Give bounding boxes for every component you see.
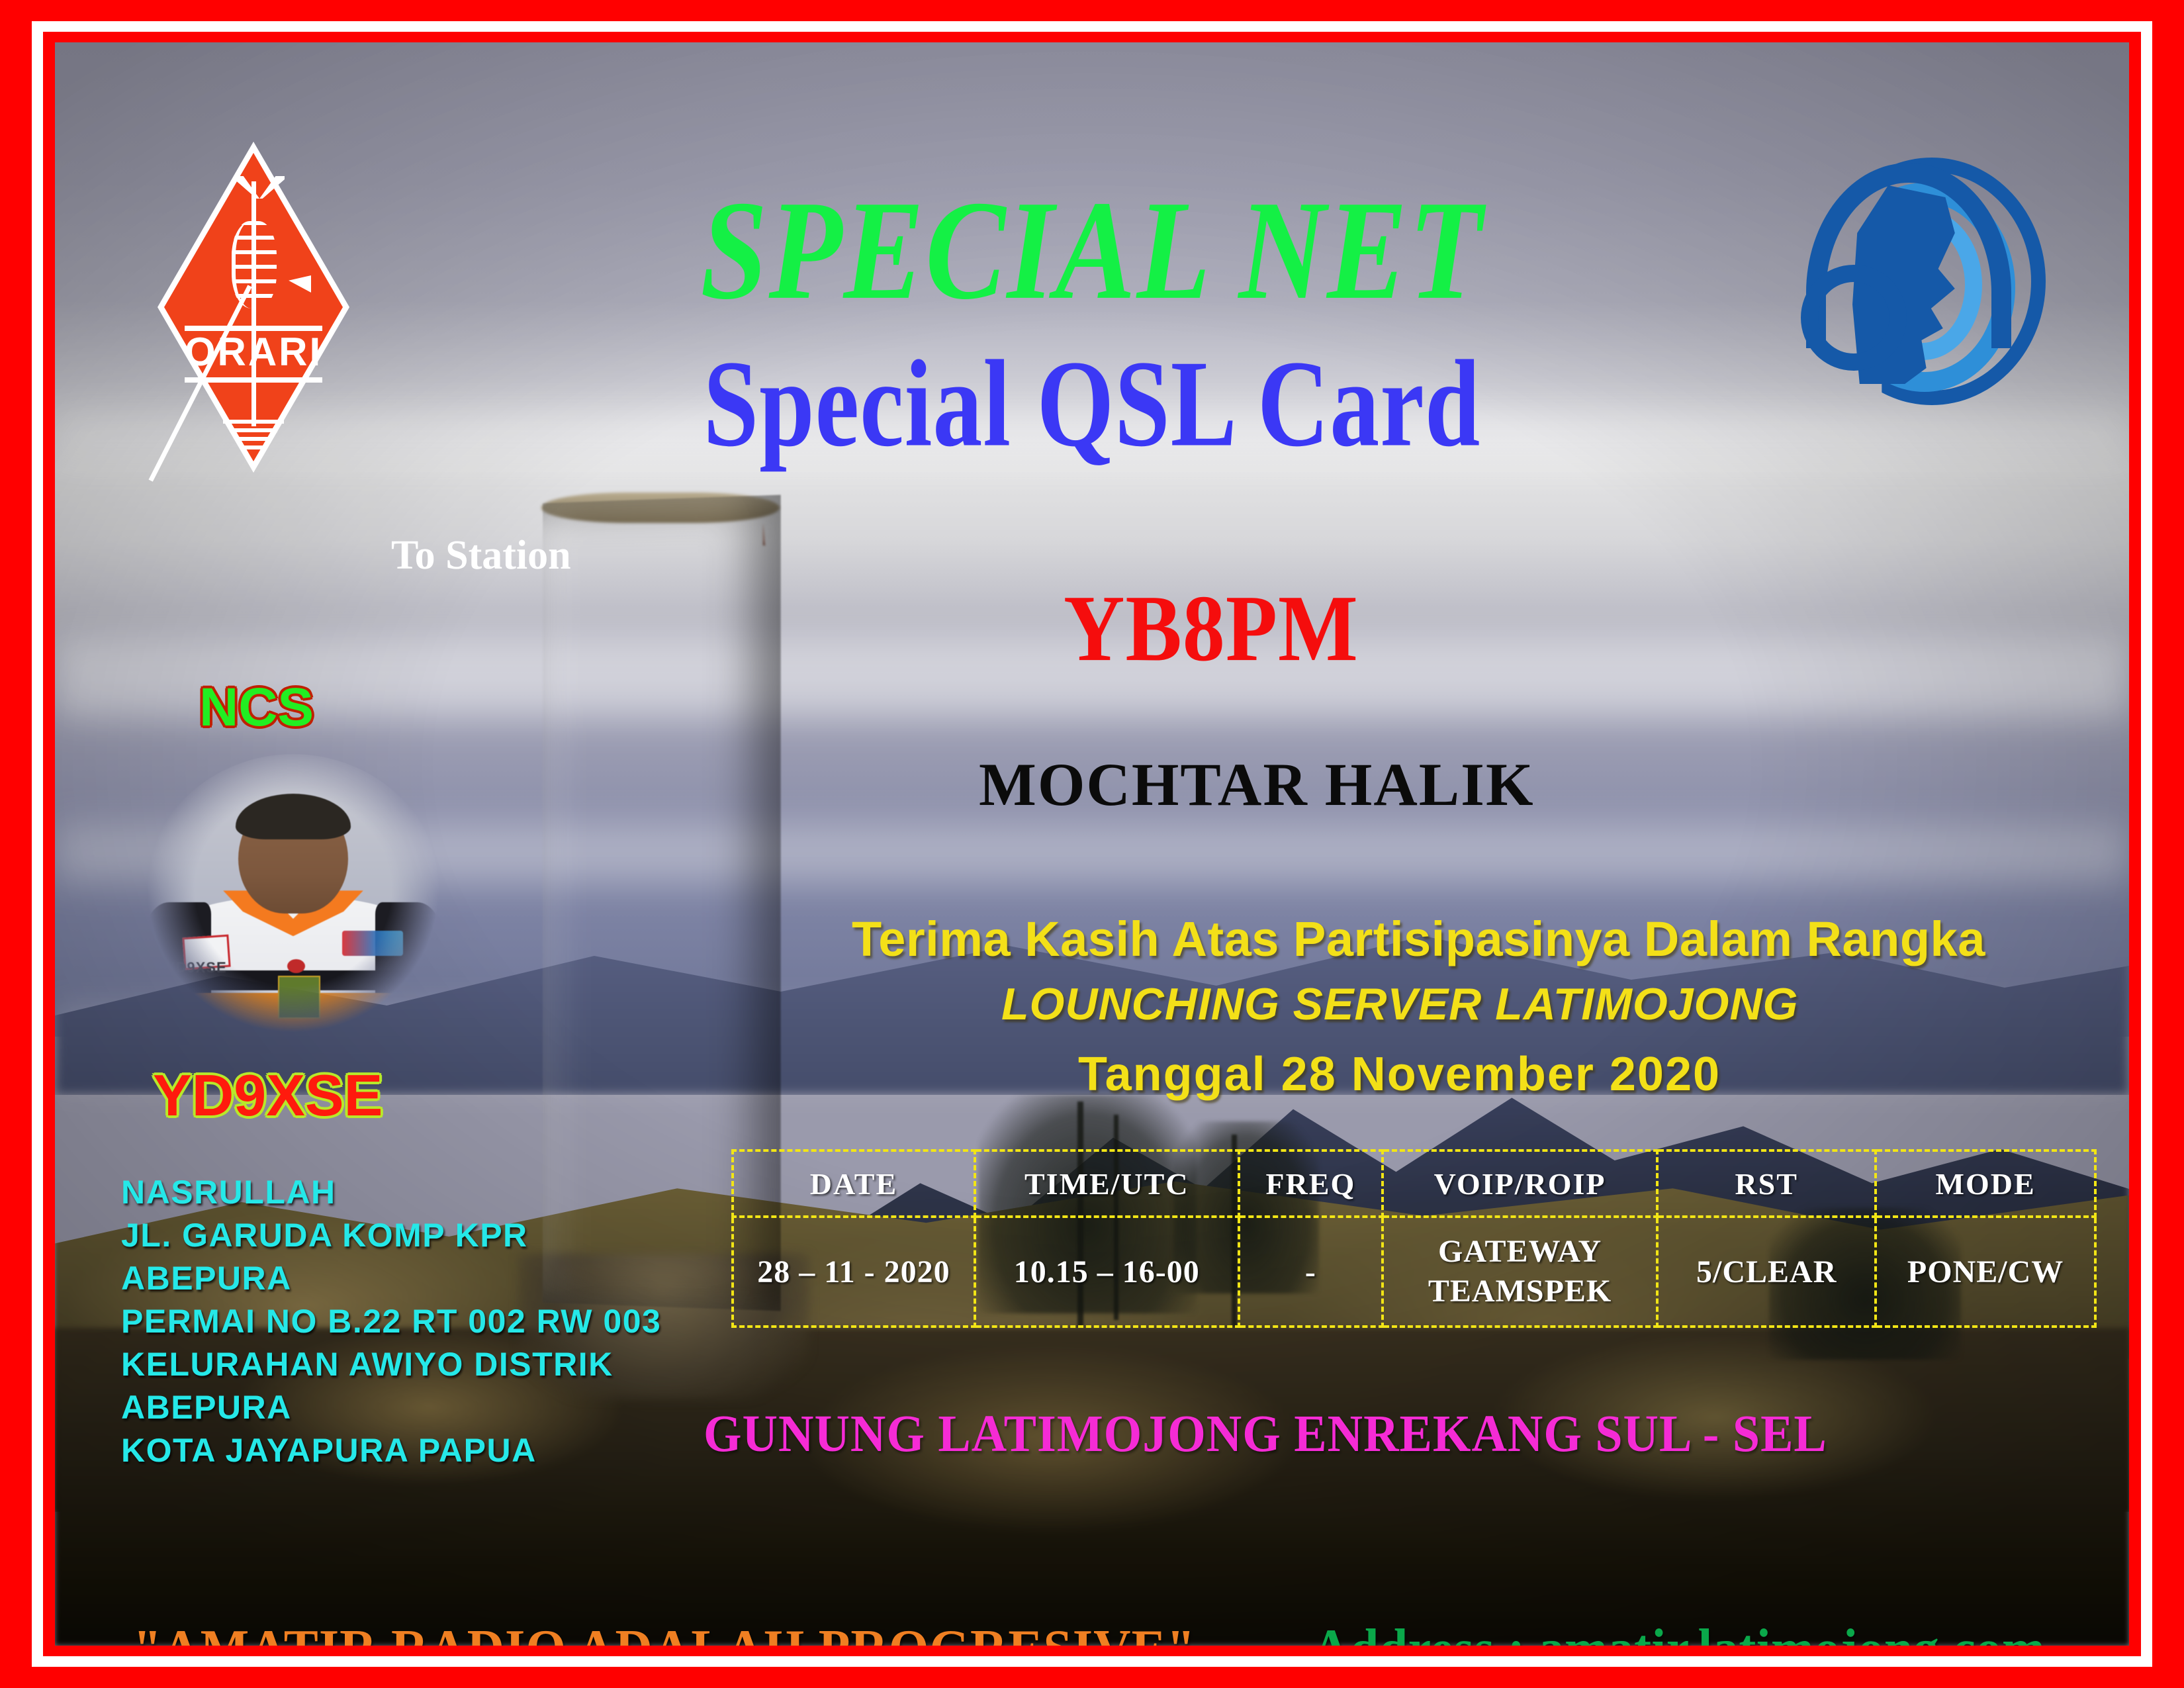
sender-address-block: NASRULLAH JL. GARUDA KOMP KPR ABEPURA PE… — [121, 1171, 661, 1472]
address-line: PERMAI NO B.22 RT 002 RW 003 — [121, 1300, 661, 1343]
thanks-line-1: Terima Kasih Atas Partisipasinya Dalam R… — [852, 911, 1985, 967]
table-header-row: DATE TIME/UTC FREQ VOIP/ROIP RST MODE — [733, 1150, 2095, 1217]
to-station-label: To Station — [391, 532, 571, 579]
thanks-line-2: LOUNCHING SERVER LATIMOJONG — [1001, 978, 1798, 1030]
ncs-callsign: YD9XSE — [153, 1062, 383, 1129]
address-line: ABEPURA — [121, 1257, 661, 1300]
address-line: NASRULLAH — [121, 1171, 661, 1214]
column-header-date: DATE — [733, 1150, 975, 1217]
station-callsign: YB8PM — [1064, 574, 1359, 683]
column-header-mode: MODE — [1876, 1150, 2095, 1217]
ncs-label: NCS — [199, 677, 314, 739]
ncs-operator-photo: YD9XSE — [141, 754, 445, 1039]
address-line: JL. GARUDA KOMP KPR — [121, 1214, 661, 1257]
cell-time: 10.15 – 16-00 — [975, 1217, 1239, 1327]
background-photograph: ORARI SPECIAL NET Special QSL Card To St… — [55, 42, 2129, 1646]
cell-mode: PONE/CW — [1876, 1217, 2095, 1327]
page-title: SPECIAL NET — [55, 169, 2129, 332]
thanks-line-3: Tanggal 28 November 2020 — [1078, 1047, 1721, 1102]
column-header-voip: VOIP/ROIP — [1383, 1150, 1657, 1217]
location-line: GUNUNG LATIMOJONG ENREKANG SUL - SEL — [704, 1404, 1827, 1465]
station-operator-name: MOCHTAR HALIK — [979, 749, 1535, 820]
cell-date: 28 – 11 - 2020 — [733, 1217, 975, 1327]
column-header-rst: RST — [1657, 1150, 1876, 1217]
cell-voip-line1: GATEWAY — [1384, 1232, 1656, 1272]
photo-chest-logo — [342, 931, 403, 957]
column-header-time: TIME/UTC — [975, 1150, 1239, 1217]
qsl-card: ORARI SPECIAL NET Special QSL Card To St… — [0, 0, 2184, 1688]
cell-rst: 5/CLEAR — [1657, 1217, 1876, 1327]
footer-web-address: Address : amatir.latimojong.com — [1312, 1617, 2045, 1646]
cell-voip: GATEWAY TEAMSPEK — [1383, 1217, 1657, 1327]
address-line: ABEPURA — [121, 1386, 661, 1429]
address-line: KOTA JAYAPURA PAPUA — [121, 1429, 661, 1472]
cell-freq: - — [1239, 1217, 1383, 1327]
photo-shirt-callsign: YD9XSE — [165, 959, 227, 976]
table-row: 28 – 11 - 2020 10.15 – 16-00 - GATEWAY T… — [733, 1217, 2095, 1327]
photo-id-card — [278, 976, 320, 1018]
column-header-freq: FREQ — [1239, 1150, 1383, 1217]
cell-voip-line2: TEAMSPEK — [1384, 1272, 1656, 1311]
footer-slogan: "AMATIR RADIO ADALAH PROGRESIVE" — [133, 1617, 1196, 1646]
address-line: KELURAHAN AWIYO DISTRIK — [121, 1343, 661, 1386]
qso-log-table: DATE TIME/UTC FREQ VOIP/ROIP RST MODE 28… — [731, 1149, 2097, 1328]
page-subtitle: Special QSL Card — [55, 333, 2129, 475]
